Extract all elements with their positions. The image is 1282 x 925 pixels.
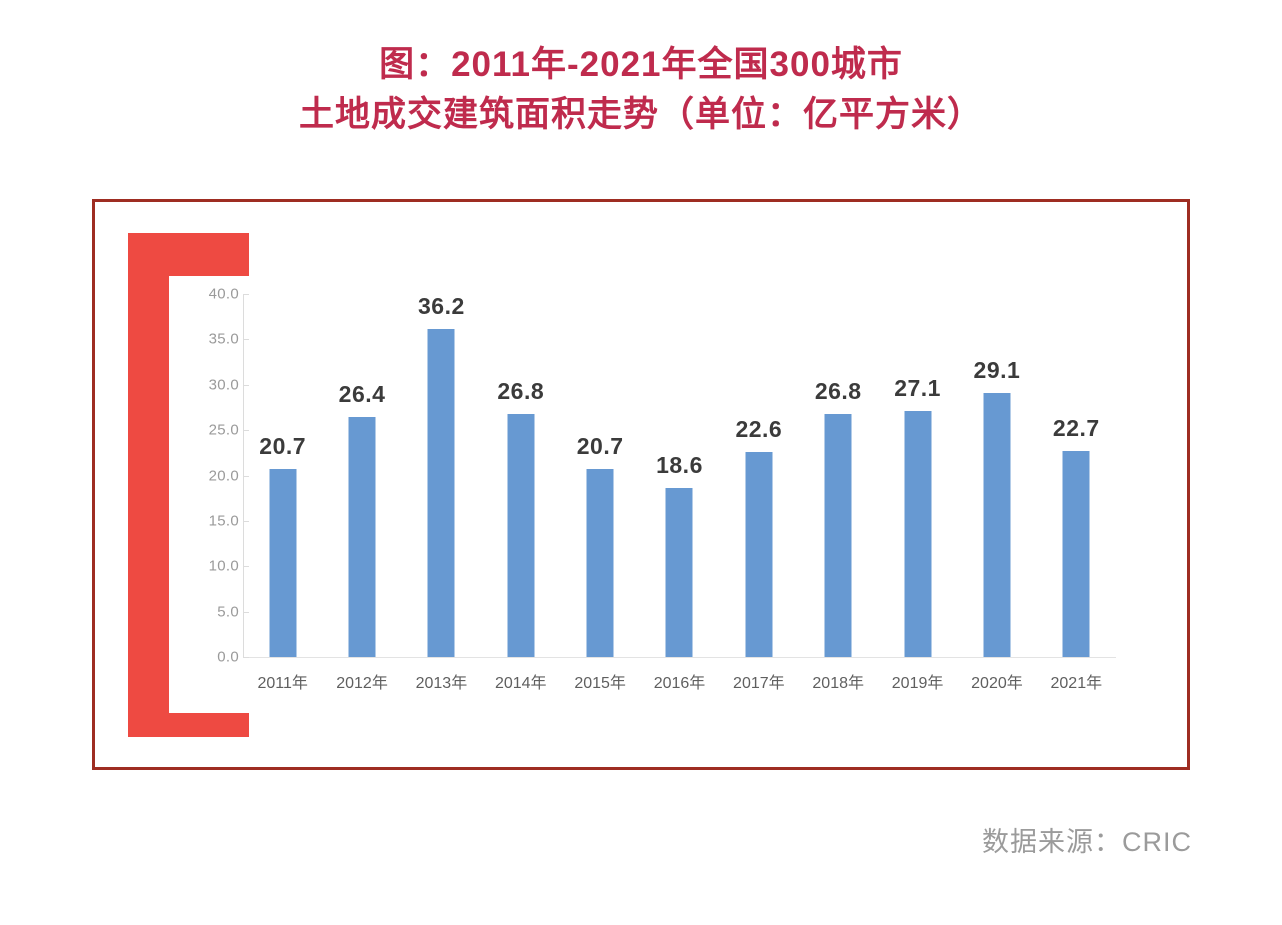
bar-value-label: 27.1 — [894, 375, 941, 402]
bar-slot[interactable]: 20.7 — [243, 294, 322, 657]
bar-slot[interactable]: 29.1 — [957, 294, 1036, 657]
y-axis-tick-label-text: 30.0 — [209, 376, 239, 393]
chart-title-block: 图：2011年-2021年全国300城市 土地成交建筑面积走势（单位：亿平方米） — [0, 40, 1282, 139]
x-axis-tick-label: 2011年 — [243, 669, 322, 693]
bar-value-label: 29.1 — [974, 357, 1021, 384]
bar-slot[interactable]: 18.6 — [640, 294, 719, 657]
y-axis-tick-label-text: 25.0 — [209, 422, 239, 439]
bar-value-label: 26.8 — [497, 378, 544, 405]
x-axis-tick-label: 2021年 — [1037, 669, 1116, 693]
bar-value-label: 22.6 — [735, 416, 782, 443]
chart-title-line-1: 图：2011年-2021年全国300城市 — [0, 40, 1282, 90]
bar[interactable] — [904, 411, 931, 657]
bar[interactable] — [745, 452, 772, 657]
y-axis-tick-label-text: 35.0 — [209, 331, 239, 348]
x-axis-tick-label: 2020年 — [957, 669, 1036, 693]
bar-value-label: 26.8 — [815, 378, 862, 405]
bar[interactable] — [1063, 451, 1090, 657]
bar[interactable] — [666, 488, 693, 657]
x-axis-baseline — [243, 657, 1116, 658]
bar-slot[interactable]: 20.7 — [560, 294, 639, 657]
bar-slot[interactable]: 26.4 — [322, 294, 401, 657]
bar[interactable] — [349, 417, 376, 657]
bar-slot[interactable]: 26.8 — [481, 294, 560, 657]
x-axis-tick-label: 2016年 — [640, 669, 719, 693]
x-axis-tick-label: 2017年 — [719, 669, 798, 693]
y-axis-tick-label-text: 5.0 — [217, 603, 239, 620]
bar-value-label: 20.7 — [577, 433, 624, 460]
bar[interactable] — [983, 393, 1010, 657]
y-axis-tick-label-text: 0.0 — [217, 649, 239, 666]
bar[interactable] — [428, 329, 455, 658]
bars-container: 20.726.436.226.820.718.622.626.827.129.1… — [243, 294, 1116, 657]
y-axis-tick-mark — [243, 657, 249, 658]
bar-value-label: 18.6 — [656, 452, 703, 479]
bar-value-label: 26.4 — [339, 381, 386, 408]
y-axis-tick-label-text: 10.0 — [209, 558, 239, 575]
bar-slot[interactable]: 22.7 — [1037, 294, 1116, 657]
y-axis-tick-label-text: 40.0 — [209, 286, 239, 303]
bar[interactable] — [587, 469, 614, 657]
bar-value-label: 22.7 — [1053, 415, 1100, 442]
data-source-note: 数据来源：CRIC — [982, 820, 1192, 859]
bar-value-label: 36.2 — [418, 293, 465, 320]
bar-slot[interactable]: 27.1 — [878, 294, 957, 657]
bar-value-label: 20.7 — [259, 433, 306, 460]
bar-slot[interactable]: 36.2 — [402, 294, 481, 657]
x-axis-tick-label: 2019年 — [878, 669, 957, 693]
x-axis-tick-label: 2012年 — [322, 669, 401, 693]
bar-slot[interactable]: 22.6 — [719, 294, 798, 657]
x-axis-tick-label: 2018年 — [799, 669, 878, 693]
chart-title-line-2: 土地成交建筑面积走势（单位：亿平方米） — [0, 90, 1282, 140]
y-axis-tick-label-text: 15.0 — [209, 512, 239, 529]
x-axis-tick-label: 2013年 — [402, 669, 481, 693]
bar-chart-plot: 0.05.010.015.020.025.030.035.040.0 20.72… — [92, 199, 1190, 770]
y-axis-tick-label-text: 20.0 — [209, 467, 239, 484]
bar[interactable] — [269, 469, 296, 657]
bar-slot[interactable]: 26.8 — [799, 294, 878, 657]
bar[interactable] — [507, 414, 534, 657]
bar[interactable] — [825, 414, 852, 657]
x-axis-tick-label: 2015年 — [560, 669, 639, 693]
x-axis-tick-label: 2014年 — [481, 669, 560, 693]
